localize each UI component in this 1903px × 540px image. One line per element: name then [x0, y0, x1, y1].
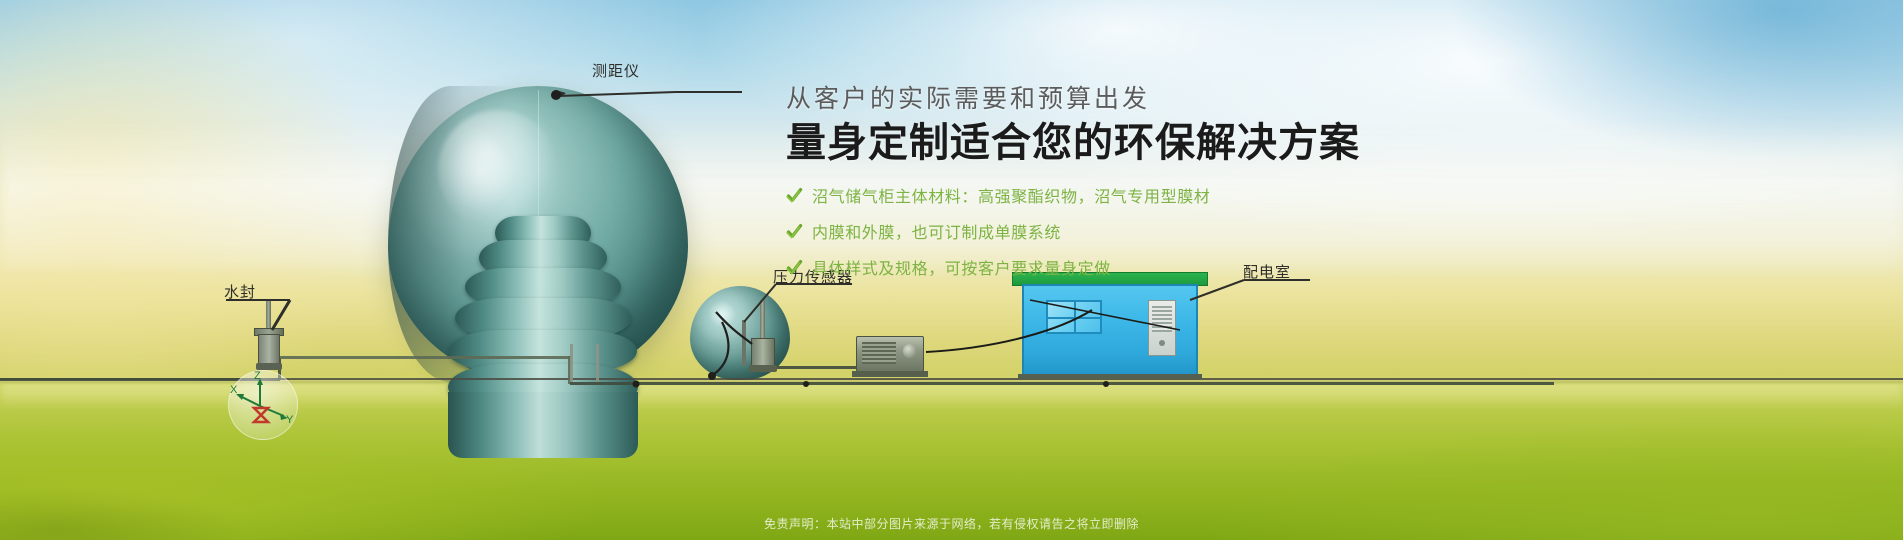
banner-headline: 量身定制适合您的环保解决方案 — [786, 120, 1546, 167]
pressure-sensor-body — [751, 338, 775, 366]
axis-gizmo: Z X Y — [228, 370, 298, 440]
building-window — [1046, 300, 1102, 334]
water-seal-stem — [266, 300, 271, 330]
blower-knob — [903, 344, 917, 358]
pipe-dome-vertical-2 — [596, 344, 599, 382]
blower-grill — [862, 342, 896, 364]
water-seal-base — [256, 363, 282, 370]
dome-highlight — [438, 110, 558, 230]
axis-gizmo-arrows — [228, 370, 298, 440]
banner-subheading: 从客户的实际需要和预算出发 — [786, 84, 1546, 114]
pressure-sensor-base — [749, 365, 777, 372]
marketing-copy-block: 从客户的实际需要和预算出发 量身定制适合您的环保解决方案 沼气储气柜主体材料：高… — [786, 84, 1546, 291]
feature-bullet-item: 内膜和外膜，也可订制成单膜系统 — [786, 219, 1546, 243]
axis-label-z: Z — [254, 370, 261, 382]
label-water-seal: 水封 — [224, 281, 256, 302]
blower-base — [852, 371, 928, 377]
pressure-sensor-pole — [742, 320, 746, 366]
control-panel-display — [1152, 306, 1172, 332]
pipe-dome-vertical — [570, 344, 573, 382]
pressure-sensor-stem — [760, 300, 765, 340]
axis-label-x: X — [230, 384, 237, 396]
pipe-to-right-edge — [1104, 382, 1554, 385]
disclaimer-text: 免责声明：本站中部分图片来源于网络，若有侵权请告之将立即删除 — [0, 515, 1903, 532]
feature-bullet-item: 沼气储气柜主体材料：高强聚酯织物，沼气专用型膜材 — [786, 183, 1546, 207]
banner-stage: 测距仪 水封 压力传感器 配电室 Z X Y 从客户的实际需要和预算出发 量身定… — [0, 0, 1903, 540]
pipe-dome-to-sensor — [570, 382, 810, 385]
check-icon — [786, 223, 803, 240]
control-panel-button — [1159, 340, 1165, 346]
building-base — [1018, 374, 1202, 379]
check-icon — [786, 187, 803, 204]
feature-bullet-item: 具体样式及规格，可按客户要求量身定做 — [786, 255, 1546, 279]
feature-bullet-list: 沼气储气柜主体材料：高强聚酯织物，沼气专用型膜材 内膜和外膜，也可订制成单膜系统… — [786, 183, 1546, 279]
inner-membrane-stack — [448, 216, 638, 464]
membrane-body — [448, 392, 638, 458]
pipe-to-dome — [280, 356, 570, 359]
pipe-lower-run — [806, 382, 1106, 385]
feature-bullet-text: 具体样式及规格，可按客户要求量身定做 — [812, 255, 1111, 279]
feature-bullet-text: 内膜和外膜，也可订制成单膜系统 — [812, 219, 1061, 243]
label-rangefinder: 测距仪 — [592, 60, 640, 81]
water-seal-body — [258, 334, 280, 364]
axis-label-y: Y — [286, 414, 293, 426]
check-icon — [786, 259, 803, 276]
feature-bullet-text: 沼气储气柜主体材料：高强聚酯织物，沼气专用型膜材 — [812, 183, 1210, 207]
